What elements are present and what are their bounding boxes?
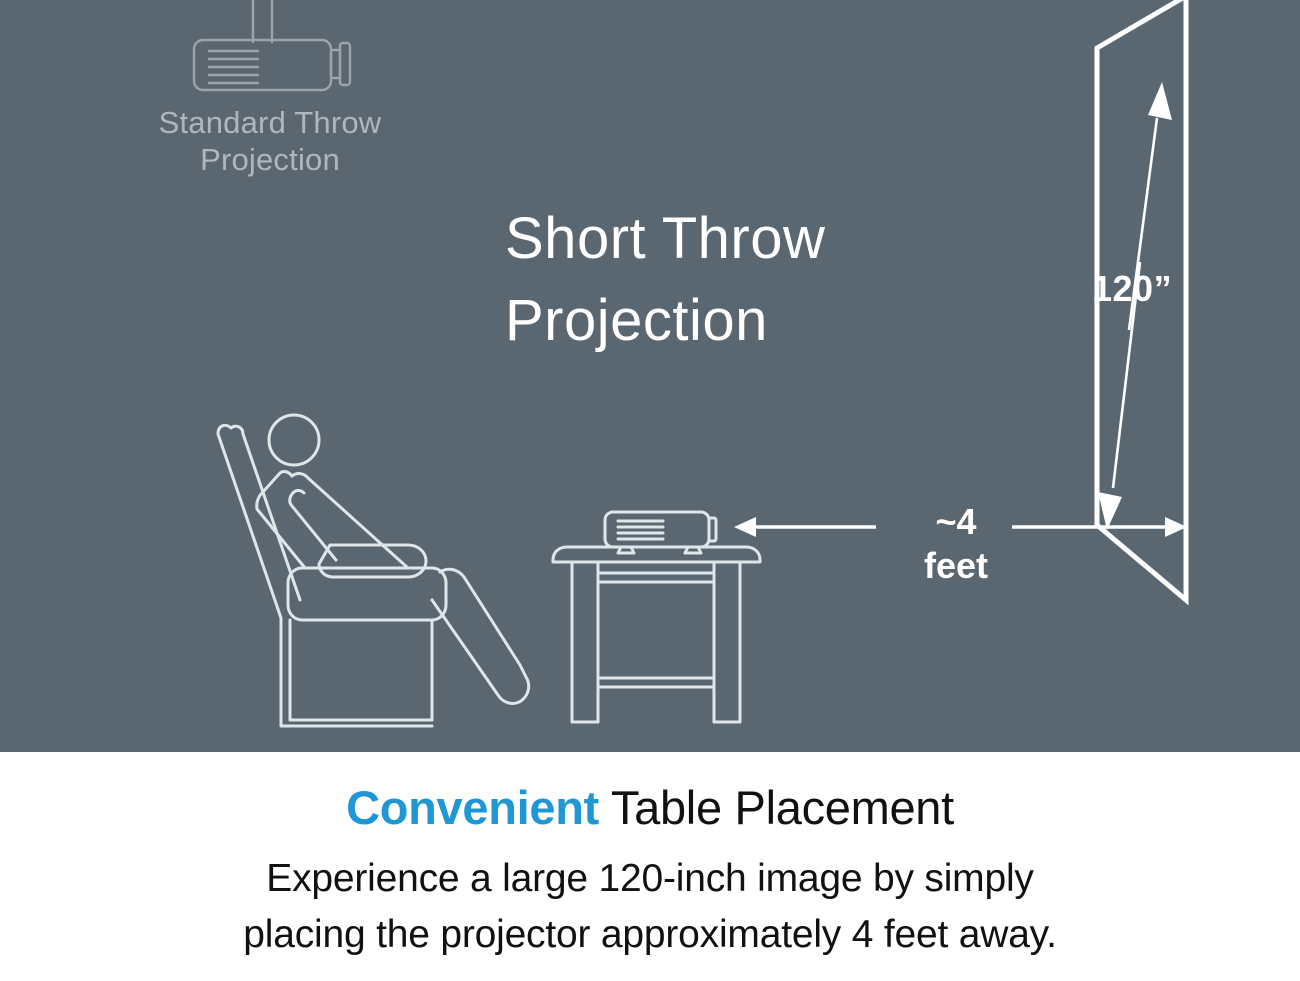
short-throw-title: Short ThrowProjection: [505, 198, 945, 363]
caption-heading: Convenient Table Placement: [0, 752, 1300, 835]
standard-throw-label-line2: Projection: [200, 142, 340, 177]
caption-body: Experience a large 120-inch image by sim…: [0, 835, 1300, 962]
reclining-viewer-icon: [218, 415, 529, 726]
throw-distance-unit: feet: [924, 545, 988, 586]
side-table-icon: [553, 547, 760, 722]
screen-size-label: 120”: [1092, 268, 1172, 310]
throw-distance-value: ~4: [935, 501, 976, 542]
short-throw-title-line1: Short Throw: [505, 206, 825, 271]
standard-throw-label-line1: Standard Throw: [159, 105, 382, 140]
caption-body-line2: placing the projector approximately 4 fe…: [0, 907, 1300, 962]
caption-panel: Convenient Table Placement Experience a …: [0, 752, 1300, 981]
ceiling-mounted-projector-icon: [194, 0, 350, 90]
standard-throw-label: Standard ThrowProjection: [140, 105, 400, 178]
product-feature-graphic: Standard ThrowProjection Short ThrowProj…: [0, 0, 1300, 981]
diagram-panel: Standard ThrowProjection Short ThrowProj…: [0, 0, 1300, 752]
caption-heading-rest: Table Placement: [599, 781, 954, 834]
caption-body-line1: Experience a large 120-inch image by sim…: [0, 851, 1300, 906]
short-throw-projector-icon: [605, 512, 716, 553]
short-throw-title-line2: Projection: [505, 288, 768, 353]
throw-distance-label: ~4feet: [876, 500, 1036, 588]
caption-heading-accent: Convenient: [346, 781, 599, 834]
